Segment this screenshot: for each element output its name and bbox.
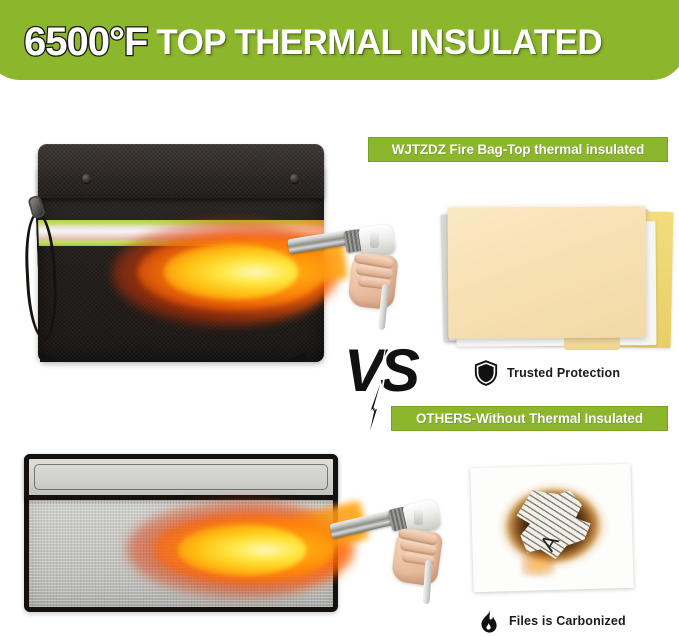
intact-documents bbox=[436, 198, 676, 350]
header-headline: TOP THERMAL INSULATED bbox=[156, 25, 602, 60]
strap-loop bbox=[23, 211, 60, 340]
torch-trigger bbox=[370, 232, 379, 248]
flame-icon bbox=[476, 608, 500, 634]
silver-fire-bag bbox=[18, 440, 344, 620]
flap-inner-seam bbox=[34, 464, 328, 490]
reflective-stripe bbox=[38, 220, 324, 246]
label-top-product: WJTZDZ Fire Bag-Top thermal insulated bbox=[368, 137, 668, 162]
product-comparison-image: 6500°F TOP THERMAL INSULATED WJTZDZ Fire… bbox=[0, 0, 679, 636]
ember-glow bbox=[521, 554, 556, 577]
badge-label: Trusted Protection bbox=[507, 366, 620, 380]
snap-button-left bbox=[82, 174, 91, 183]
burned-document: A bbox=[472, 466, 632, 594]
blow-torch-top bbox=[288, 218, 408, 330]
wrist-strap bbox=[20, 194, 62, 342]
status-badge-carbonized: Files is Carbonized bbox=[476, 608, 626, 634]
document-sheet-top bbox=[448, 205, 647, 338]
black-fire-bag bbox=[18, 138, 328, 366]
strap-clip bbox=[27, 195, 46, 220]
status-badge-trusted: Trusted Protection bbox=[474, 360, 620, 386]
bag-flap bbox=[38, 144, 324, 198]
blow-torch-bottom bbox=[330, 492, 455, 604]
snap-button-right bbox=[290, 174, 299, 183]
torch-trigger bbox=[414, 509, 423, 525]
badge-label: Files is Carbonized bbox=[509, 614, 626, 628]
burned-paper-card: A bbox=[470, 464, 633, 592]
label-other-product: OTHERS-Without Thermal Insulated bbox=[391, 406, 668, 431]
vs-label: VS bbox=[330, 341, 430, 401]
shield-icon bbox=[474, 360, 498, 386]
header-temperature: 6500°F bbox=[24, 22, 147, 62]
page-title: 6500°F TOP THERMAL INSULATED bbox=[24, 14, 679, 70]
